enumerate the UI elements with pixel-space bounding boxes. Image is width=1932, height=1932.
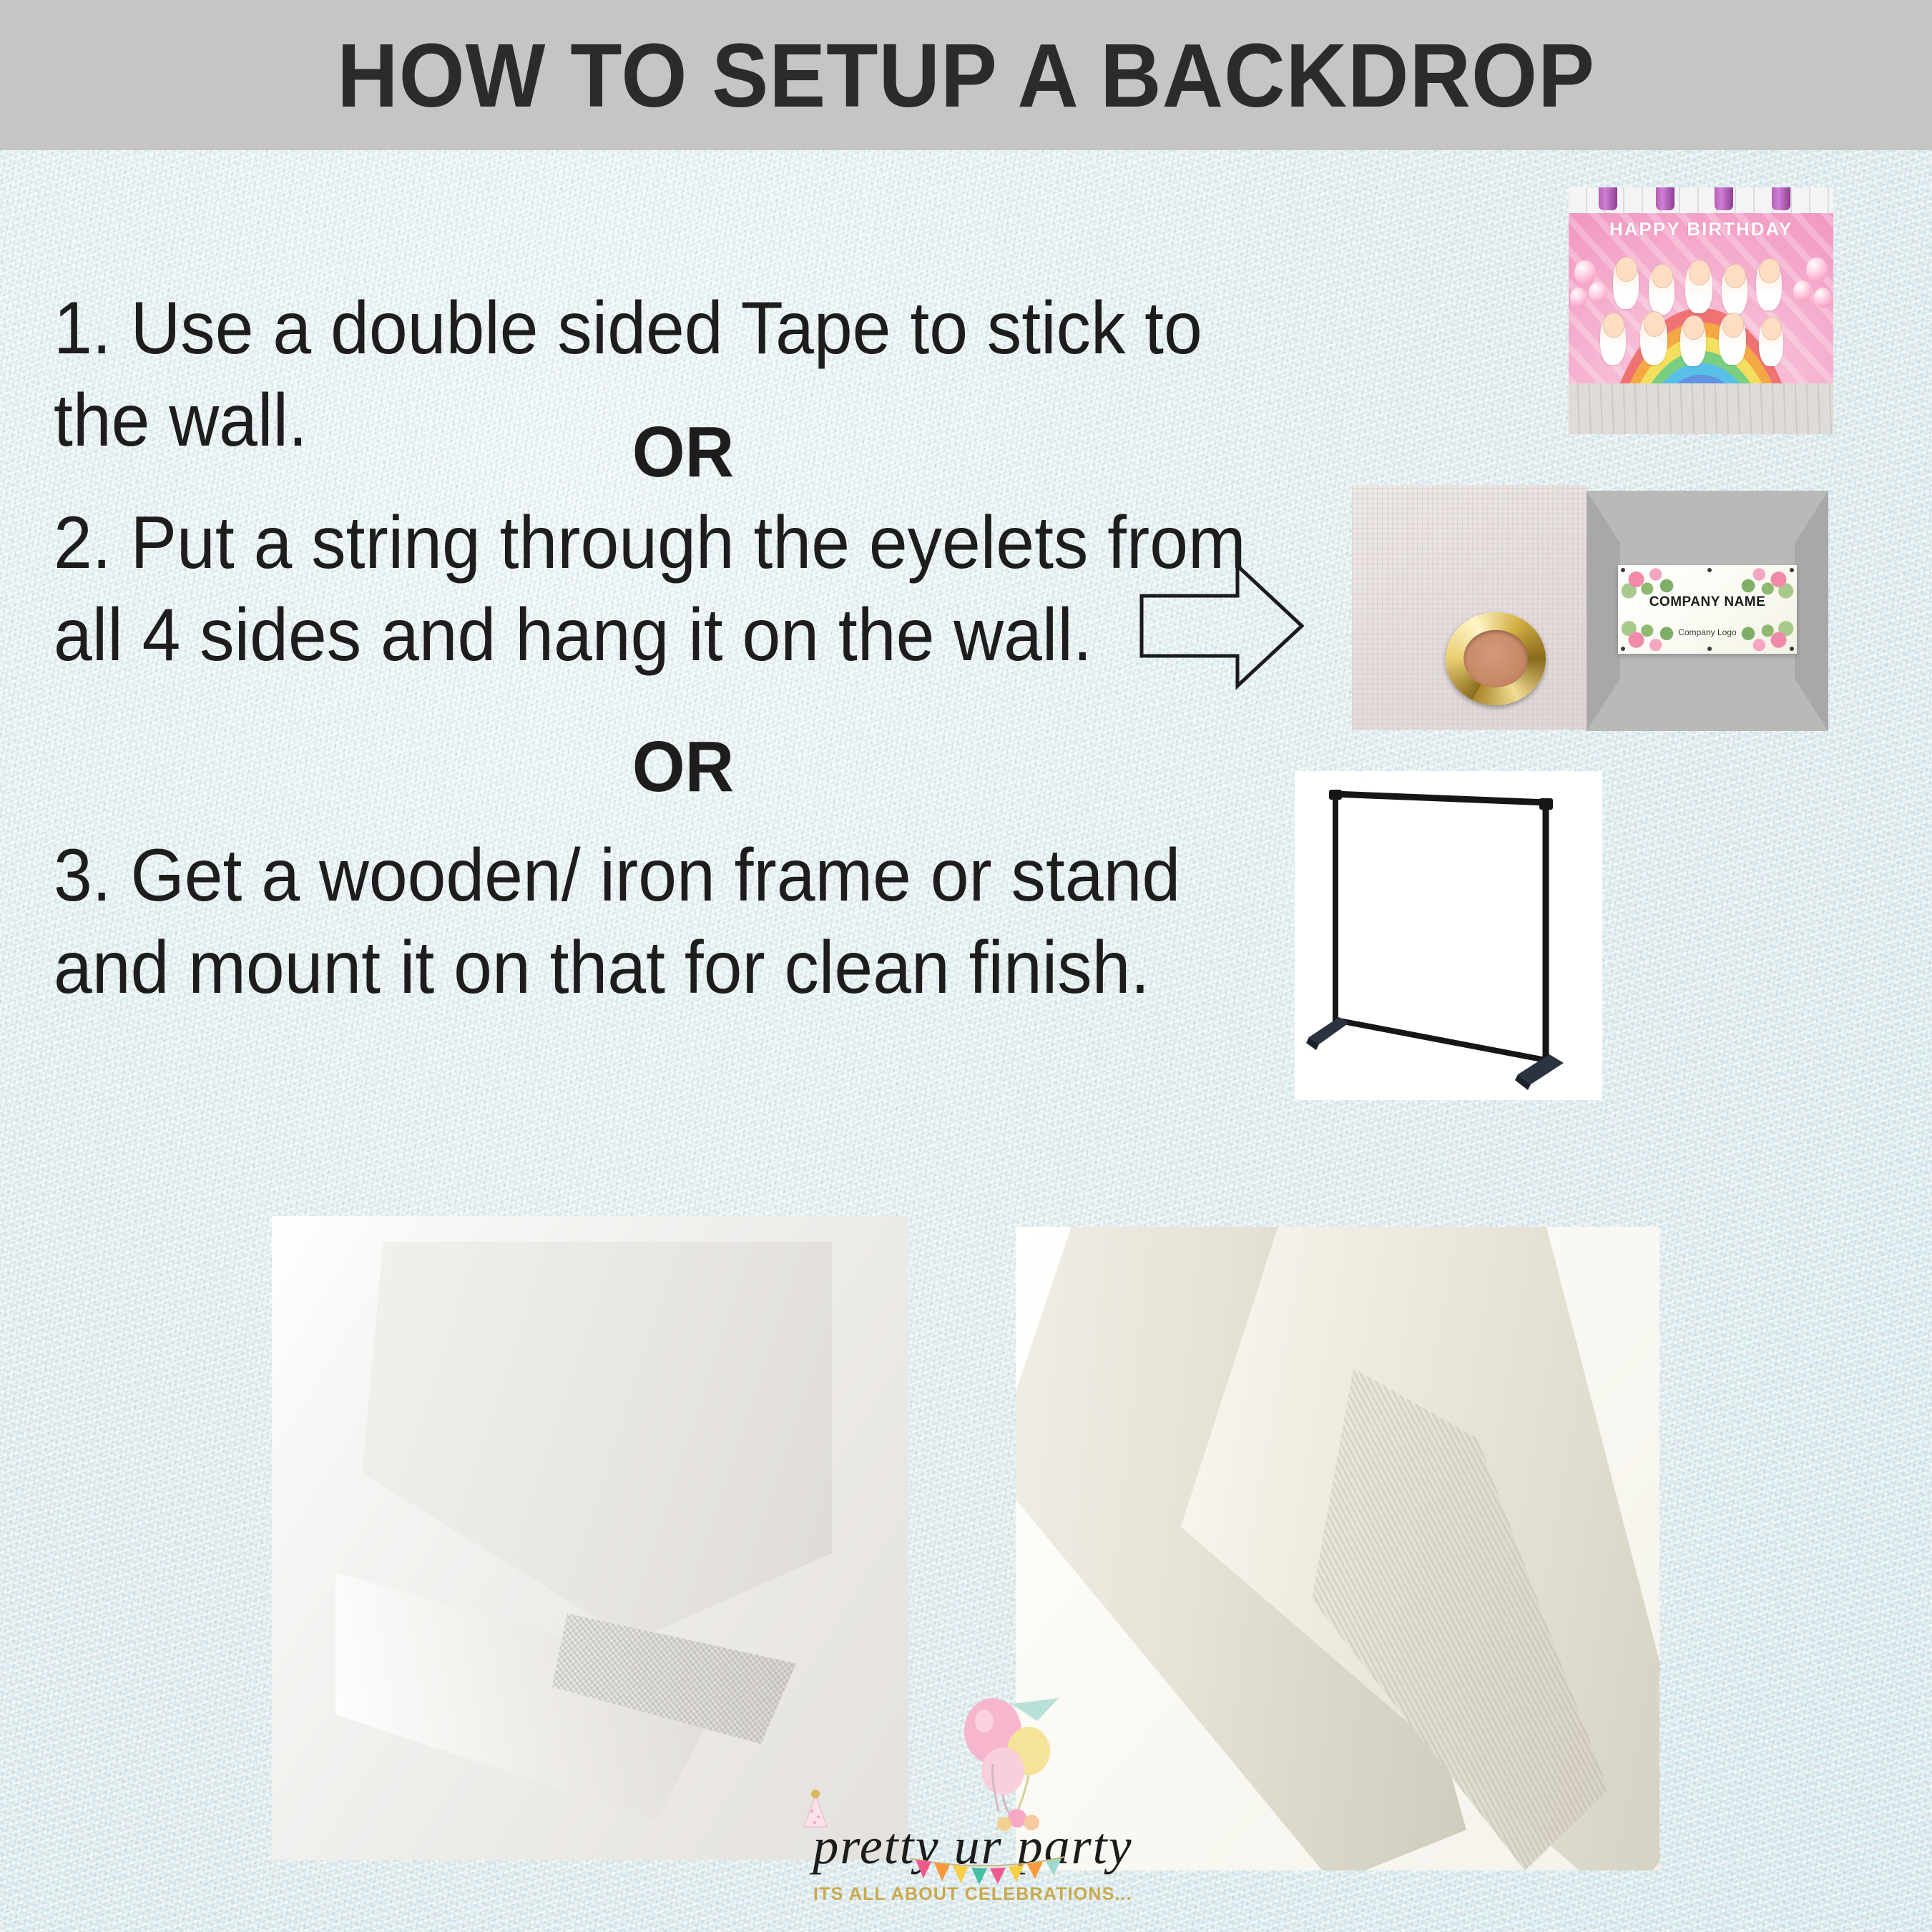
step-2-text: 2. Put a string through the eyelets from… [54, 497, 1246, 682]
backdrop-clip-icon [1656, 187, 1674, 210]
backdrop-stand-photo [1295, 771, 1602, 1100]
lol-birthday-backdrop-photo: HAPPY BIRTHDAY [1569, 187, 1833, 434]
arrow-right-outline-icon [1139, 562, 1305, 690]
logo-tagline-text: ITS ALL ABOUT CELEBRATIONS... [773, 1884, 1173, 1905]
wood-floor [1569, 383, 1833, 434]
lol-backdrop-print: HAPPY BIRTHDAY [1569, 213, 1833, 383]
banner-sheet: COMPANY NAME Company Logo [1618, 565, 1797, 654]
eyelet-ring-icon [1446, 612, 1546, 705]
page-title: HOW TO SETUP A BACKDROP [337, 24, 1595, 127]
backdrop-clip-icon [1599, 187, 1617, 210]
eyelet-grommet-photo [1352, 485, 1587, 730]
balloons-icon [951, 1697, 1073, 1833]
or-separator-2: OR [632, 726, 735, 808]
backdrop-clip-icon [1715, 187, 1733, 210]
step-3-text: 3. Get a wooden/ iron frame or stand and… [54, 830, 1180, 1014]
company-banner-photo: COMPANY NAME Company Logo [1587, 491, 1828, 731]
header-bar: HOW TO SETUP A BACKDROP [0, 0, 1932, 150]
happy-birthday-text: HAPPY BIRTHDAY [1569, 218, 1833, 240]
backdrop-clip-icon [1772, 187, 1790, 210]
or-separator-1: OR [632, 411, 735, 494]
banner-company-logo: Company Logo [1618, 627, 1797, 637]
brand-logo: pretty ur party ITS ALL ABOUT CELEBRATIO… [773, 1697, 1173, 1932]
infographic-page: HOW TO SETUP A BACKDROP 1. Use a double … [0, 0, 1932, 1932]
banner-company-name: COMPANY NAME [1618, 594, 1797, 610]
bunting-icon [908, 1853, 1066, 1886]
backdrop-clip-rail [1569, 187, 1833, 215]
backdrop-stand-illustration [1295, 771, 1602, 1100]
